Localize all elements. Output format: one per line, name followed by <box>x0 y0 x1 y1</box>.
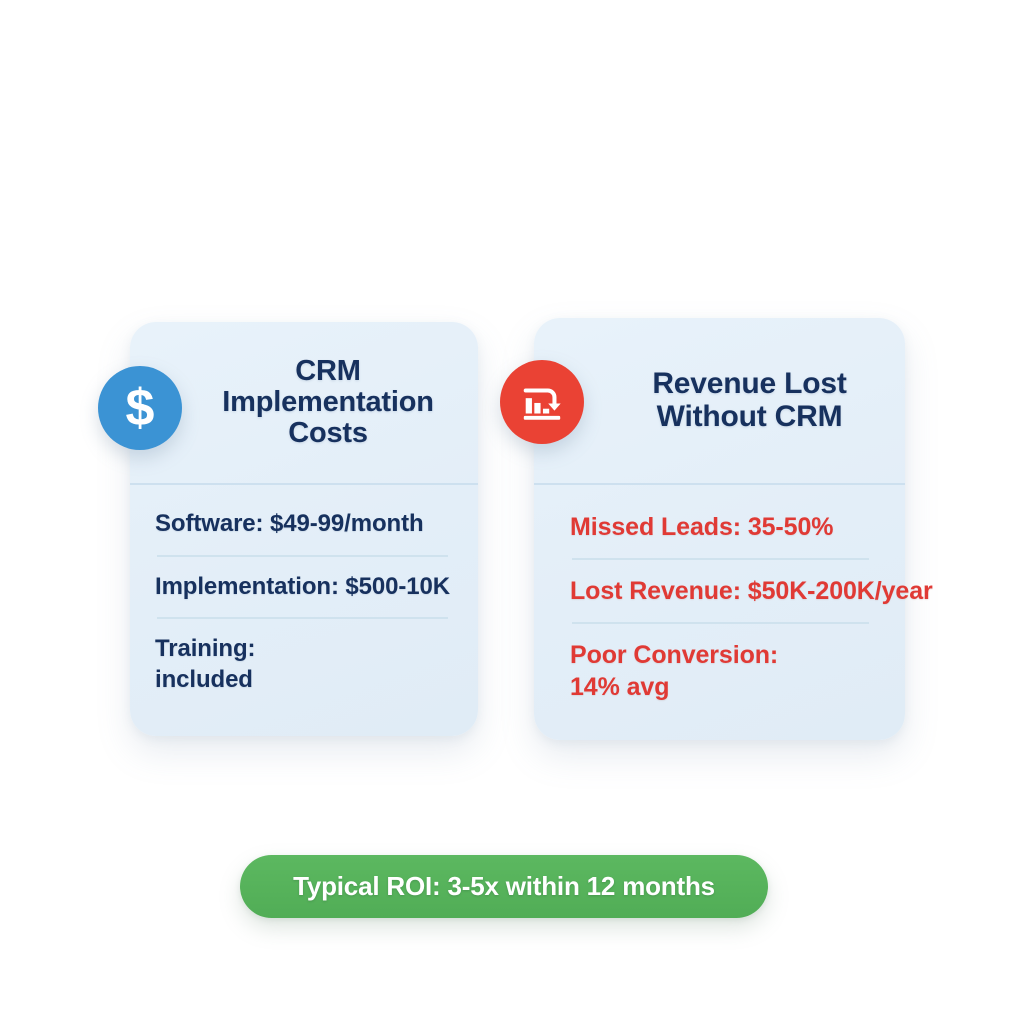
list-item-label: Training:included <box>155 634 456 695</box>
list-item-label: Poor Conversion:14% avg <box>570 639 895 703</box>
list-item-label: Implementation: $500-10K <box>155 572 456 603</box>
card-header: Revenue Lost Without CRM <box>534 318 905 483</box>
list-item: Software: $49-99/month <box>155 509 456 557</box>
chart-down-arrow-glyph <box>519 379 565 425</box>
list-item: Implementation: $500-10K <box>155 572 456 620</box>
card-title: Revenue Lost Without CRM <box>534 368 905 432</box>
card-crm-implementation-costs: CRM Implementation Costs $ Software: $49… <box>130 322 478 736</box>
roi-banner: Typical ROI: 3-5x within 12 months <box>240 855 768 918</box>
roi-banner-label: Typical ROI: 3-5x within 12 months <box>293 871 715 902</box>
card-item-list: Software: $49-99/month Implementation: $… <box>130 483 478 736</box>
dollar-sign-glyph: $ <box>126 382 155 434</box>
list-item: Missed Leads: 35-50% <box>570 511 895 560</box>
infographic-canvas: CRM Implementation Costs $ Software: $49… <box>0 0 1024 1024</box>
list-item-label: Software: $49-99/month <box>155 509 456 540</box>
list-item: Training:included <box>155 634 456 695</box>
card-title: CRM Implementation Costs <box>130 356 478 449</box>
card-item-list: Missed Leads: 35-50% Lost Revenue: $50K-… <box>534 483 905 740</box>
list-item-label: Missed Leads: 35-50% <box>570 511 895 543</box>
card-header: CRM Implementation Costs <box>130 322 478 483</box>
chart-down-arrow-icon <box>500 360 584 444</box>
dollar-circle-icon: $ <box>98 366 182 450</box>
list-item: Lost Revenue: $50K-200K/year <box>570 575 895 624</box>
card-revenue-lost-without-crm: Revenue Lost Without CRM Mi <box>534 318 905 740</box>
list-item-label: Lost Revenue: $50K-200K/year <box>570 575 895 607</box>
list-item: Poor Conversion:14% avg <box>570 639 895 703</box>
